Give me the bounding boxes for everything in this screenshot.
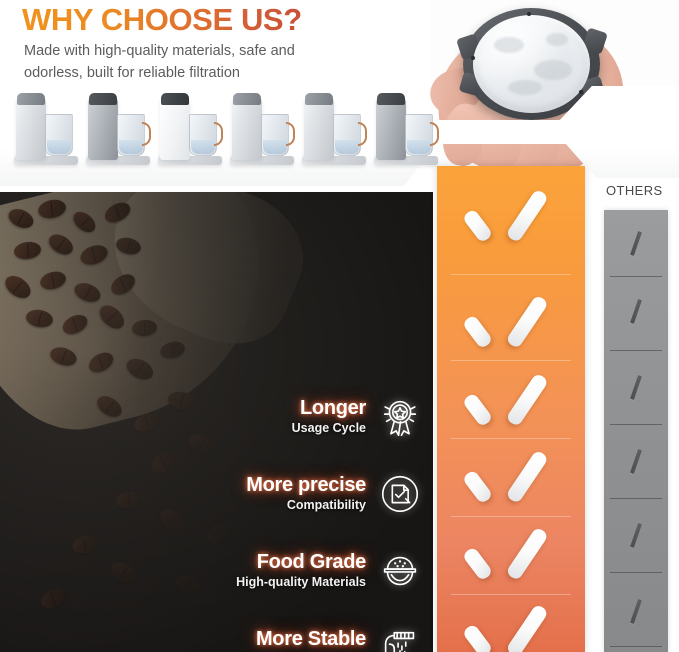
page-subtitle: Made with high-quality materials, safe a… [24, 40, 354, 84]
check-icon [478, 447, 544, 501]
others-slash-cell-6 [604, 580, 668, 642]
slash-icon [630, 231, 642, 256]
others-divider [610, 350, 662, 351]
coffee-maker-2 [86, 90, 152, 170]
feature-row-longer: Longer Usage Cycle [292, 392, 425, 442]
others-divider [610, 646, 662, 647]
disc-screw [471, 56, 475, 60]
ours-check-cell-4 [437, 435, 585, 513]
check-icon [478, 292, 544, 346]
coffee-maker-1 [14, 90, 80, 170]
ours-check-cell-2 [437, 280, 585, 358]
others-divider [610, 424, 662, 425]
coffee-maker-6 [374, 90, 440, 170]
powder-grain [546, 33, 568, 46]
others-panel [604, 210, 668, 652]
slash-icon [630, 599, 642, 624]
coffee-maker-5 [302, 90, 368, 170]
disc-screw [527, 12, 531, 16]
ours-column [437, 166, 585, 652]
check-icon [478, 186, 544, 240]
others-slash-cell-1 [604, 212, 668, 274]
food-bowl-icon [375, 546, 425, 596]
feature-title: More precise [246, 474, 366, 496]
feature-title: More Stable [256, 628, 366, 650]
feature-row-more-stable: More Stable Outflow Velocity [256, 623, 425, 652]
ours-divider [451, 274, 571, 275]
feature-subtitle: Usage Cycle [292, 421, 366, 437]
feature-subtitle: Compatibility [246, 498, 366, 514]
ours-check-cell-5 [437, 512, 585, 590]
feature-title: Longer [292, 397, 366, 419]
others-divider [610, 276, 662, 277]
slash-icon [630, 523, 642, 548]
others-slash-cell-5 [604, 504, 668, 566]
check-icon [478, 601, 544, 652]
infographic-page: WHY CHOOSE US? Made with high-quality ma… [0, 0, 679, 652]
others-slash-cell-3 [604, 356, 668, 418]
feature-row-more-precise: More precise Compatibility [246, 469, 425, 519]
coffee-maker-3 [158, 90, 224, 170]
others-divider [610, 498, 662, 499]
others-slash-cell-4 [604, 430, 668, 492]
ours-check-cell-3 [437, 358, 585, 436]
ours-check-cell-6 [437, 589, 585, 652]
document-check-circle-icon [375, 469, 425, 519]
slash-icon [630, 375, 642, 400]
header: WHY CHOOSE US? Made with high-quality ma… [0, 0, 440, 92]
others-column-label: OTHERS [606, 183, 663, 198]
feature-row-food-grade: Food Grade High-quality Materials [236, 546, 425, 596]
water-outflow-icon [375, 623, 425, 652]
others-slash-cell-2 [604, 280, 668, 342]
medal-award-icon [375, 392, 425, 442]
slash-icon [630, 449, 642, 474]
coffee-maker-4 [230, 90, 296, 170]
page-title: WHY CHOOSE US? [22, 2, 302, 38]
feature-subtitle: High-quality Materials [236, 575, 366, 591]
check-icon [478, 524, 544, 578]
feature-panel: Longer Usage Cycle More precise Compatib… [0, 192, 433, 652]
feature-title: Food Grade [236, 551, 366, 573]
powder-grain [494, 37, 524, 53]
others-divider [610, 572, 662, 573]
slash-icon [630, 299, 642, 324]
ours-check-cell-1 [437, 174, 585, 252]
check-icon [478, 370, 544, 424]
